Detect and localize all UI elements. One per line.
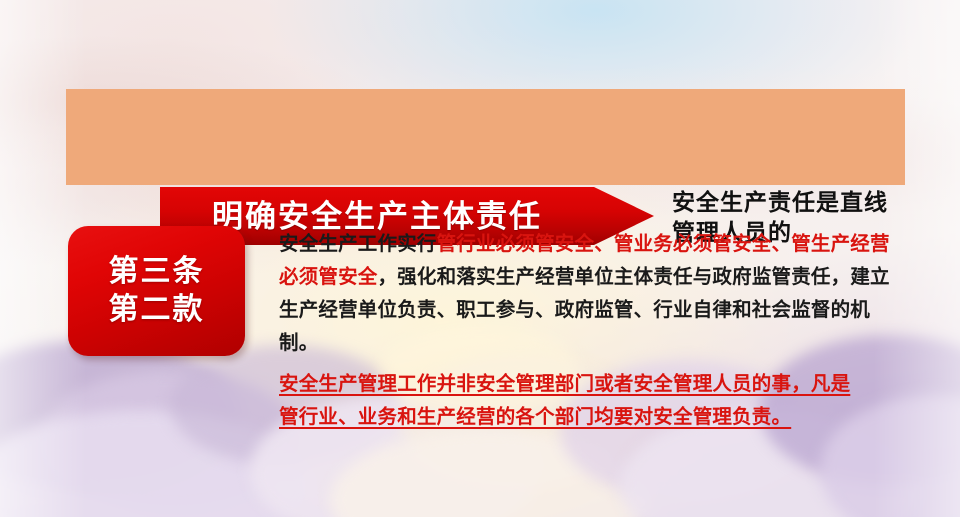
banner-side-text-line-1: 安全生产责任是直线 <box>672 187 960 217</box>
article-badge-line-2: 第二款 <box>109 291 205 329</box>
headline-banner: 明确安全生产主体责任 安全生产责任是直线 管理人员的 <box>66 89 905 185</box>
article-badge: 第三条 第二款 <box>68 226 245 356</box>
emphasis-line-2: 管行业、业务和生产经营的各个部门均要对安全管理负责。 <box>279 401 907 434</box>
article-badge-line-1: 第三条 <box>109 253 205 291</box>
body-paragraph: 安全生产工作实行管行业必须管安全、管业务必须管安全、管生产经营必须管安全，强化和… <box>279 228 907 360</box>
emphasis-line-1: 安全生产管理工作并非安全管理部门或者安全管理人员的事，凡是 <box>279 368 907 401</box>
emphasis-paragraph: 安全生产管理工作并非安全管理部门或者安全管理人员的事，凡是 管行业、业务和生产经… <box>279 368 907 434</box>
slide-canvas: 明确安全生产主体责任 安全生产责任是直线 管理人员的 第三条 第二款 安全生产工… <box>0 0 960 517</box>
body-segment-plain-1: 安全生产工作实行 <box>279 233 437 255</box>
